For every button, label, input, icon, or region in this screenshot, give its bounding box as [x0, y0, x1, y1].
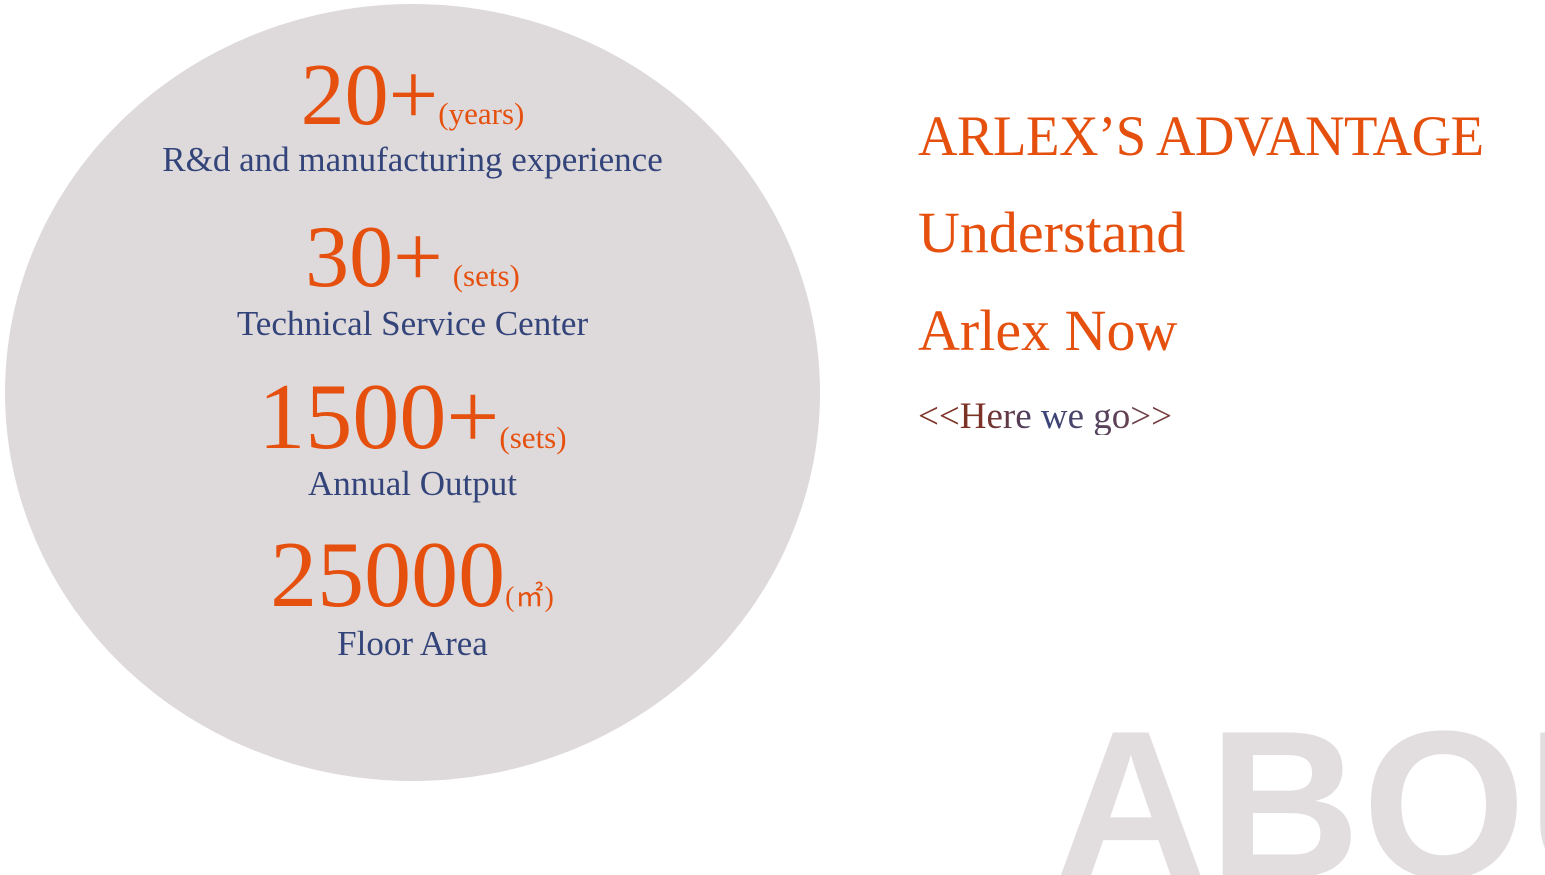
stat-label: Annual Output [5, 464, 820, 504]
stat-label: Technical Service Center [5, 304, 820, 344]
headline-line-2: Arlex Now [918, 302, 1538, 360]
stat-value-row: 1500+(sets) [5, 370, 820, 464]
subline-call-to-action: <<Here we go>> [918, 398, 1538, 435]
stat-number: 1500+ [258, 365, 499, 469]
stat-block-service-center: 30+(sets) Technical Service Center [5, 214, 820, 344]
stat-unit: (㎡) [505, 582, 555, 613]
about-watermark-text: ABOUT [1055, 700, 1545, 875]
stat-unit: (years) [438, 96, 524, 131]
stat-value-row: 25000(㎡) [5, 528, 820, 622]
stat-number: 30+ [305, 209, 443, 306]
stat-block-annual-output: 1500+(sets) Annual Output [5, 370, 820, 504]
headline-group: ARLEX’S ADVANTAGE Understand Arlex Now <… [918, 108, 1538, 435]
stat-number: 20+ [301, 47, 439, 144]
stat-block-experience: 20+(years) R&d and manufacturing experie… [5, 52, 820, 180]
stat-block-floor-area: 25000(㎡) Floor Area [5, 528, 820, 664]
stat-label: R&d and manufacturing experience [5, 140, 820, 180]
stat-label: Floor Area [5, 624, 820, 664]
statistics-group: 20+(years) R&d and manufacturing experie… [5, 4, 820, 781]
stat-number: 25000 [270, 523, 505, 627]
about-slide: ABOUT 20+(years) R&d and manufacturing e… [0, 0, 1545, 875]
stat-value-row: 30+(sets) [5, 214, 820, 302]
stat-unit: (sets) [453, 258, 520, 293]
stat-value-row: 20+(years) [5, 52, 820, 140]
stat-unit: (sets) [499, 420, 566, 455]
kicker-heading: ARLEX’S ADVANTAGE [918, 108, 1513, 165]
headline-line-1: Understand [918, 204, 1538, 262]
